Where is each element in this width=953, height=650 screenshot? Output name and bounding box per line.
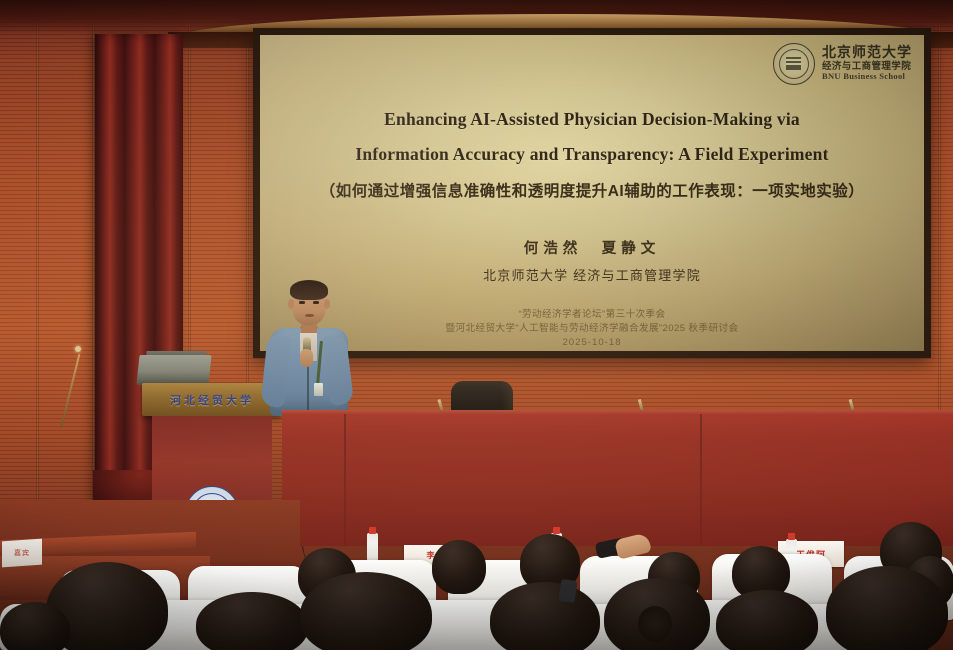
slide-title-line-2: Information Accuracy and Transparency: A… xyxy=(260,144,924,165)
presenter-hand xyxy=(300,349,313,367)
presenter-ear xyxy=(288,299,294,309)
presenter-badge xyxy=(314,383,323,396)
audience-phone xyxy=(559,579,578,603)
audience-head xyxy=(300,572,432,650)
presenter-ear xyxy=(324,299,330,309)
slide-title-chinese: （如何通过增强信息准确性和透明度提升AI辅助的工作表现：一项实地实验） xyxy=(260,179,924,201)
presentation-photo-scene: 北京师范大学 经济与工商管理学院 BNU Business School Enh… xyxy=(0,0,953,650)
slide-title-line-1: Enhancing AI-Assisted Physician Decision… xyxy=(260,109,924,130)
presenter-hair xyxy=(290,280,328,300)
table-skirt-seam xyxy=(344,414,346,546)
projection-screen-frame: 北京师范大学 经济与工商管理学院 BNU Business School Enh… xyxy=(253,28,931,358)
slide-logo: 北京师范大学 经济与工商管理学院 BNU Business School xyxy=(773,43,912,85)
wall-seam xyxy=(36,18,39,518)
audience-head xyxy=(0,602,70,650)
slide-authors: 何浩然 夏静文 xyxy=(260,237,924,258)
slide-conference-info: “劳动经济学者论坛”第三十次季会 暨河北经贸大学“人工智能与劳动经济学融合发展”… xyxy=(260,308,924,350)
slide-affiliation: 北京师范大学 经济与工商管理学院 xyxy=(260,265,924,284)
podium-microphone-tip xyxy=(75,346,81,352)
bnu-seal-icon xyxy=(773,43,815,85)
presenter-mouth xyxy=(305,314,314,317)
logo-school-name-en: BNU Business School xyxy=(822,72,912,82)
audience-head xyxy=(196,592,308,650)
slide-date: 2025-10-18 xyxy=(260,336,924,350)
logo-university-name: 北京师范大学 xyxy=(822,46,912,62)
projection-screen: 北京师范大学 经济与工商管理学院 BNU Business School Enh… xyxy=(260,35,924,351)
slide-content: Enhancing AI-Assisted Physician Decision… xyxy=(260,109,924,350)
head-table-skirt xyxy=(282,414,953,546)
audience-head xyxy=(716,590,818,650)
audience-head xyxy=(826,566,948,650)
podium-laptop xyxy=(136,355,211,385)
audience-ponytail xyxy=(638,606,672,642)
table-skirt-seam xyxy=(700,414,702,546)
presenter-eye xyxy=(299,301,305,304)
water-bottle xyxy=(367,533,378,562)
presenter-eye xyxy=(313,301,319,304)
audience-head xyxy=(432,540,486,594)
stage-placard-text: 嘉宾 xyxy=(4,548,40,558)
conference-line-1: “劳动经济学者论坛”第三十次季会 xyxy=(260,308,924,322)
conference-line-2: 暨河北经贸大学“人工智能与劳动经济学融合发展”2025 秋季研讨会 xyxy=(260,322,924,336)
audience-head xyxy=(490,582,600,650)
